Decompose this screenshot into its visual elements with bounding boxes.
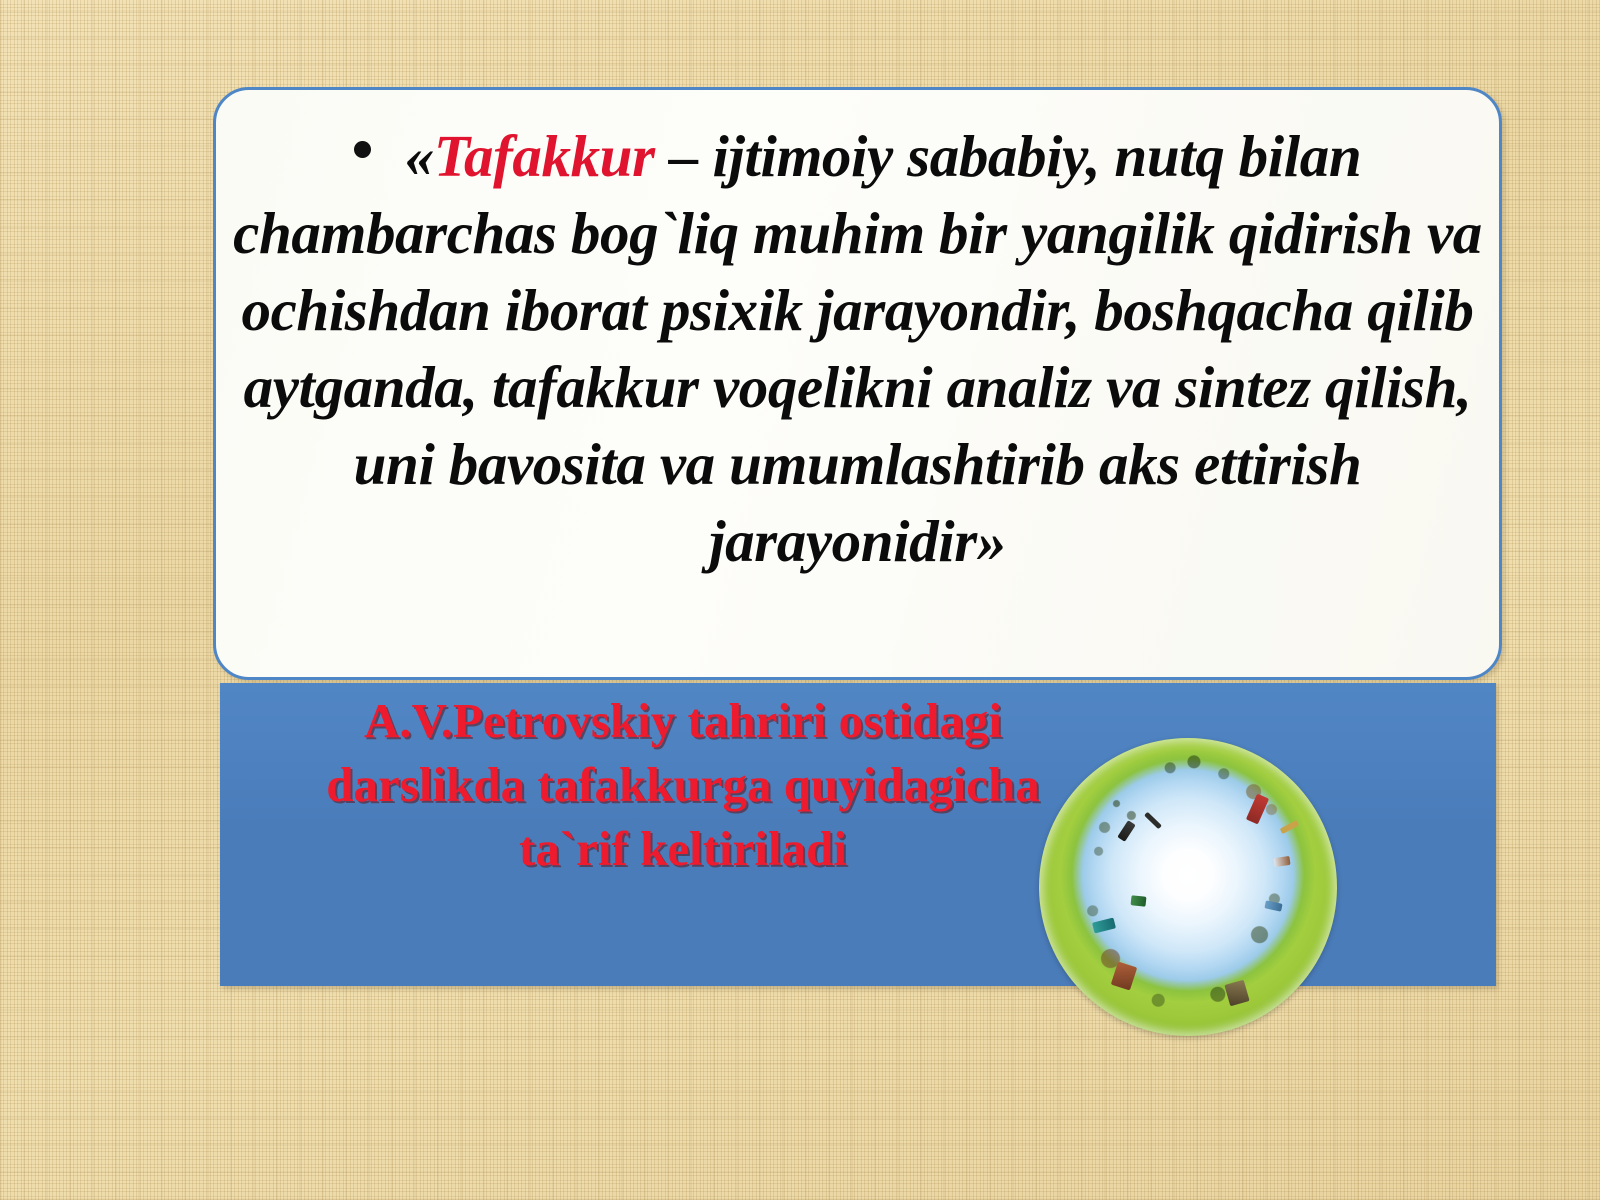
quote-keyword: Tafakkur (434, 123, 655, 189)
quote-text-block: «Tafakkur – ijtimoiy sababiy, nutq bilan… (216, 118, 1499, 580)
quote-card: «Tafakkur – ijtimoiy sababiy, nutq bilan… (213, 87, 1502, 680)
globe-ring-detail (1039, 738, 1337, 1036)
quote-body: – ijtimoiy sababiy, nutq bilan chambarch… (233, 123, 1482, 574)
caption-text: A.V.Petrovskiy tahriri ostidagi darslikd… (278, 689, 1088, 881)
globe-figure-icon (1131, 895, 1147, 907)
bullet-point-icon (354, 141, 371, 158)
globe-sphere-image (1039, 738, 1337, 1036)
quote-open-quote: « (405, 123, 434, 189)
